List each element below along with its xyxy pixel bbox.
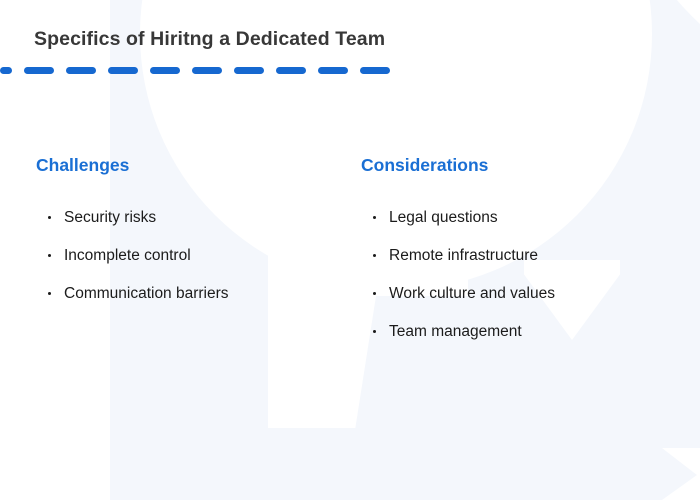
dashed-divider	[0, 67, 390, 74]
bullet-list-considerations: Legal questions Remote infrastructure Wo…	[361, 208, 671, 342]
column-considerations: Considerations Legal questions Remote in…	[361, 155, 671, 342]
list-item-label: Remote infrastructure	[389, 247, 538, 264]
slide-title: Specifics of Hiritng a Dedicated Team	[34, 28, 385, 51]
dash-segment	[66, 67, 96, 74]
dash-segment	[360, 67, 390, 74]
column-heading-considerations: Considerations	[361, 155, 671, 176]
dash-segment	[108, 67, 138, 74]
list-item: Team management	[361, 322, 671, 342]
list-item: Communication barriers	[36, 284, 326, 304]
dash-segment	[0, 67, 12, 74]
list-item-label: Security risks	[64, 209, 156, 226]
bullet-dot-icon	[373, 254, 376, 257]
dash-segment	[150, 67, 180, 74]
list-item-label: Incomplete control	[64, 247, 191, 264]
dash-segment	[24, 67, 54, 74]
list-item: Work culture and values	[361, 284, 671, 304]
list-item: Incomplete control	[36, 246, 326, 266]
bullet-list-challenges: Security risks Incomplete control Commun…	[36, 208, 326, 304]
list-item-label: Communication barriers	[64, 285, 229, 302]
dash-segment	[276, 67, 306, 74]
bullet-dot-icon	[48, 292, 51, 295]
bullet-dot-icon	[48, 254, 51, 257]
bullet-dot-icon	[48, 216, 51, 219]
dash-segment	[192, 67, 222, 74]
column-challenges: Challenges Security risks Incomplete con…	[36, 155, 326, 304]
bullet-dot-icon	[373, 216, 376, 219]
list-item: Remote infrastructure	[361, 246, 671, 266]
list-item-label: Team management	[389, 323, 522, 340]
slide-canvas: Specifics of Hiritng a Dedicated Team Ch…	[0, 0, 700, 500]
list-item: Security risks	[36, 208, 326, 228]
slide-content: Specifics of Hiritng a Dedicated Team Ch…	[0, 0, 700, 500]
bullet-dot-icon	[373, 292, 376, 295]
list-item: Legal questions	[361, 208, 671, 228]
dash-segment	[234, 67, 264, 74]
bullet-dot-icon	[373, 330, 376, 333]
list-item-label: Legal questions	[389, 209, 498, 226]
column-heading-challenges: Challenges	[36, 155, 326, 176]
dash-segment	[318, 67, 348, 74]
list-item-label: Work culture and values	[389, 285, 555, 302]
